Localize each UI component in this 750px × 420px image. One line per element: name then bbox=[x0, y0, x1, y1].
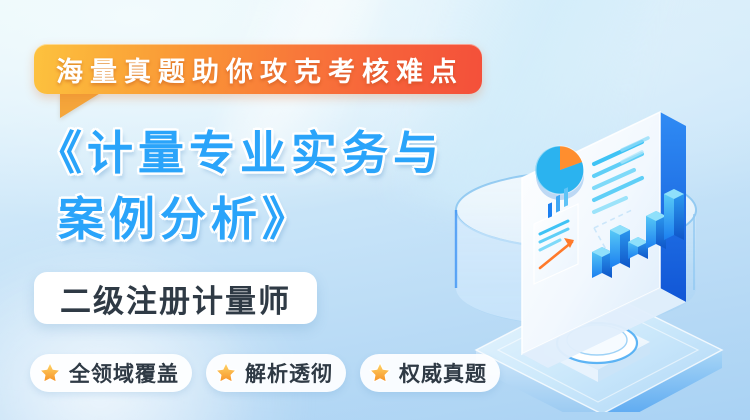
star-icon bbox=[368, 361, 392, 385]
feature-item: 解析透彻 bbox=[206, 354, 346, 392]
line-chart-card bbox=[534, 187, 578, 284]
pie-chart bbox=[535, 146, 584, 200]
feature-list: 全领域覆盖 解析透彻 权威真题 bbox=[30, 354, 500, 392]
isometric-platform bbox=[476, 288, 722, 412]
title-line-2: 案例分析》 bbox=[36, 186, 506, 252]
feature-item: 全领域覆盖 bbox=[30, 354, 192, 392]
title-line-1: 《计量专业实务与 bbox=[36, 120, 506, 186]
subtitle-label: 二级注册计量师 bbox=[60, 276, 291, 321]
rounded-puck bbox=[544, 316, 650, 382]
monitor-screen bbox=[522, 112, 686, 368]
connector-lines bbox=[594, 210, 632, 260]
feature-item: 权威真题 bbox=[360, 354, 500, 392]
feature-label: 解析透彻 bbox=[245, 358, 333, 388]
feature-label: 全领域覆盖 bbox=[69, 358, 179, 388]
ribbon-banner: 海量真题助你攻克考核难点 bbox=[34, 44, 482, 94]
text-lines bbox=[594, 142, 642, 212]
ribbon-fold-decoration bbox=[60, 92, 102, 118]
bar-chart bbox=[592, 189, 684, 278]
text-lines-secondary bbox=[622, 138, 648, 162]
feature-label: 权威真题 bbox=[399, 358, 487, 388]
ribbon-label: 海量真题助你攻克考核难点 bbox=[56, 50, 464, 89]
promo-banner-root: 海量真题助你攻克考核难点 《计量专业实务与 案例分析》 二级注册计量师 全领域覆… bbox=[0, 0, 750, 420]
ribbon-body: 海量真题助你攻克考核难点 bbox=[34, 44, 482, 94]
star-icon bbox=[38, 361, 62, 385]
star-icon bbox=[214, 361, 238, 385]
page-title: 《计量专业实务与 案例分析》 bbox=[36, 120, 506, 252]
subtitle-badge: 二级注册计量师 bbox=[34, 272, 317, 324]
